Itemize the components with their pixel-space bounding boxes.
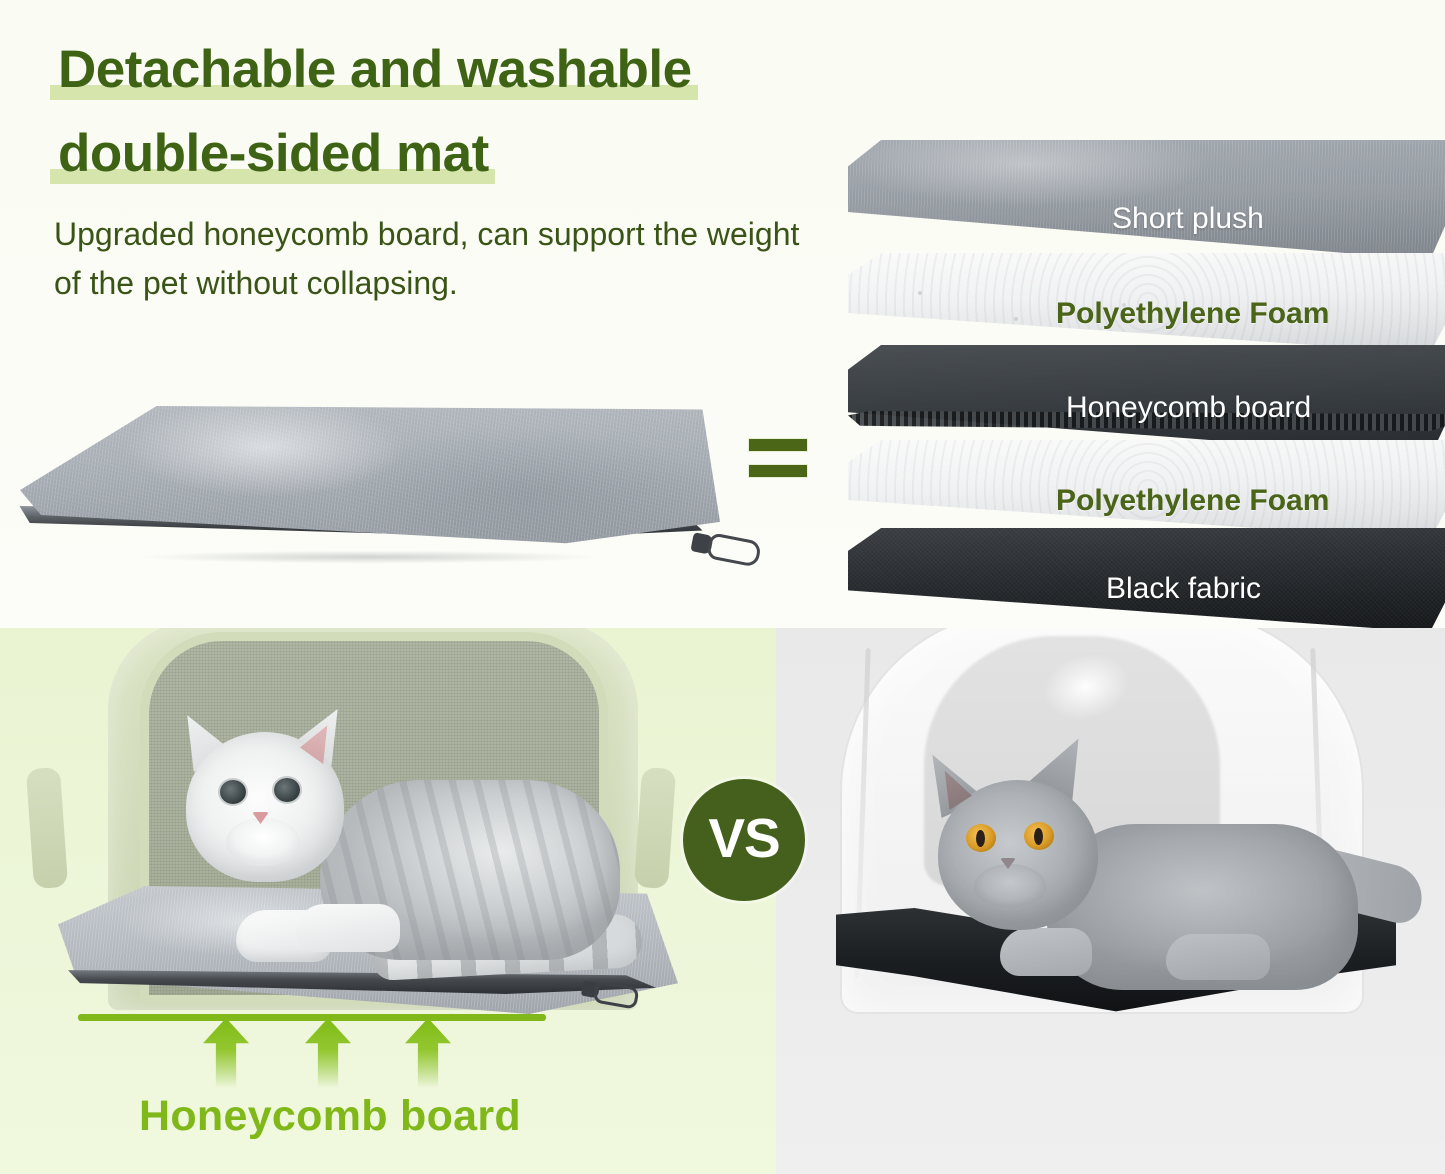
up-arrow-icon	[405, 1018, 451, 1088]
layer-label-short-plush: Short plush	[1112, 202, 1264, 236]
up-arrow-icon	[203, 1018, 249, 1088]
cat-paw-front-left	[1000, 928, 1092, 976]
silver-tabby-cat	[150, 688, 620, 988]
layer-slab	[848, 140, 1445, 260]
carrier-handle-left	[26, 767, 68, 889]
page-title-line-2: double-sided mat	[58, 118, 489, 190]
layer-polyethylene-foam-top: Polyethylene Foam	[848, 253, 1445, 353]
material-layer-stack: Short plush Polyethylene Foam Honeycomb …	[848, 140, 1445, 580]
mat-body	[20, 406, 720, 556]
layer-black-fabric: Black fabric	[848, 528, 1445, 632]
equals-bar-bottom	[748, 464, 808, 478]
layer-texture	[848, 140, 1445, 260]
cat-paw-front-right	[296, 904, 400, 952]
mat-plush-surface	[20, 406, 720, 544]
cat-eye-left	[220, 780, 246, 804]
cat-paw-hind-right	[1166, 934, 1270, 980]
top-panel: Detachable and washable double-sided mat…	[0, 0, 1445, 628]
cat-muzzle	[974, 864, 1046, 910]
equals-sign	[748, 438, 806, 478]
heading-block: Detachable and washable double-sided mat	[58, 34, 858, 190]
page-title-line-1: Detachable and washable	[58, 34, 692, 106]
zipper-pull-icon	[706, 532, 762, 567]
layer-polyethylene-foam-bottom: Polyethylene Foam	[848, 440, 1445, 540]
infographic-page: Detachable and washable double-sided mat…	[0, 0, 1445, 1174]
comparison-section: Honeycomb board	[0, 628, 1445, 1174]
carrier-handle-right	[634, 767, 676, 889]
page-title-line-1-text: Detachable and washable	[58, 40, 692, 99]
honeycomb-board-label: Honeycomb board	[0, 1092, 660, 1141]
cat-pupil-left	[976, 830, 985, 847]
gray-shorthair-cat	[896, 728, 1356, 1018]
honeycomb-support-graphic: Honeycomb board	[0, 1004, 776, 1174]
layer-label-polyethylene-foam-top: Polyethylene Foam	[1056, 297, 1329, 331]
equals-bar-top	[748, 438, 808, 452]
page-title-line-2-text: double-sided mat	[58, 124, 489, 183]
layer-label-honeycomb-board: Honeycomb board	[1066, 391, 1311, 425]
mat-plush-texture	[20, 406, 720, 544]
subtitle-text: Upgraded honeycomb board, can support th…	[54, 210, 814, 308]
cat-pupil-right	[1034, 828, 1043, 845]
up-arrow-icon	[305, 1018, 351, 1088]
comparison-panel-pp-board: PP board	[776, 628, 1445, 1174]
layer-short-plush: Short plush	[848, 140, 1445, 260]
comparison-panel-honeycomb: Honeycomb board	[0, 628, 776, 1174]
layer-label-polyethylene-foam-bottom: Polyethylene Foam	[1056, 484, 1329, 518]
cat-eye-right	[274, 778, 300, 802]
product-mat-figure	[10, 398, 750, 588]
cat-muzzle	[226, 818, 300, 866]
flat-board-line	[78, 1014, 546, 1021]
layer-label-black-fabric: Black fabric	[1106, 572, 1261, 606]
vs-badge-label: VS	[708, 811, 779, 866]
vs-badge: VS	[683, 779, 805, 901]
